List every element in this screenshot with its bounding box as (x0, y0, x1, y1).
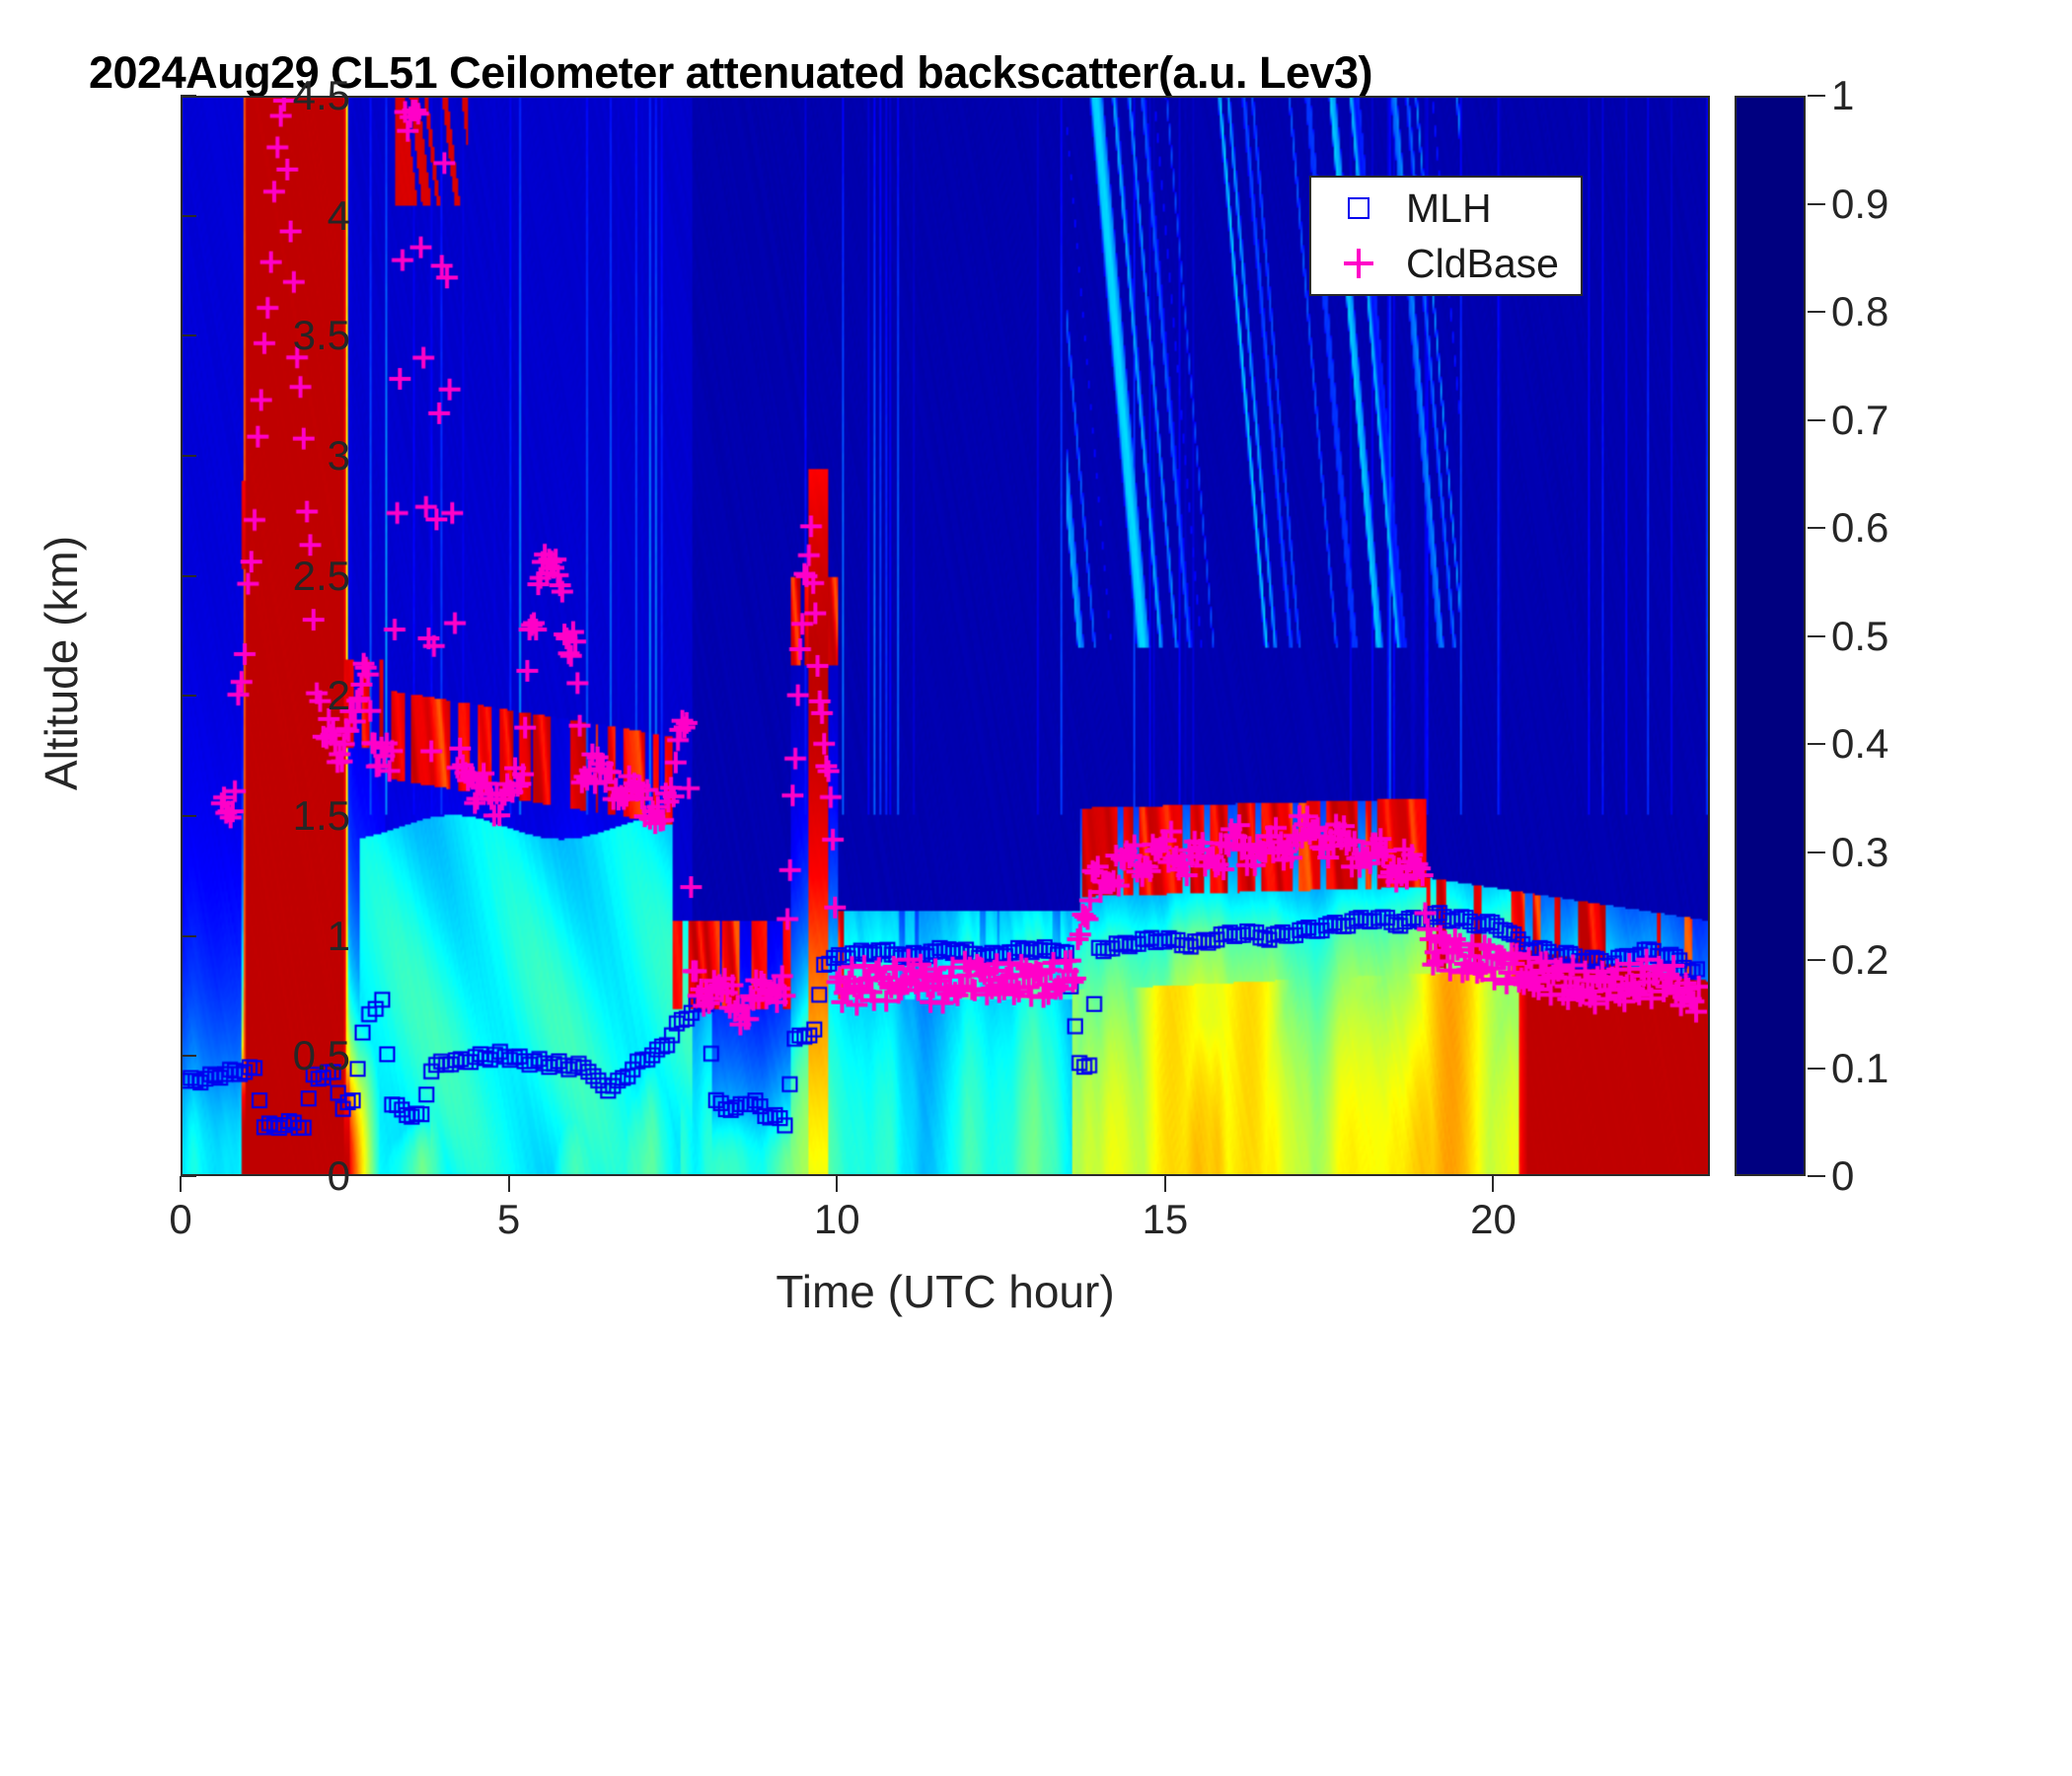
legend-label-cldbase: CldBase (1406, 241, 1559, 287)
colorbar-tick-mark (1808, 959, 1825, 961)
colorbar-tick-label: 0.8 (1831, 288, 2029, 335)
colorbar-tick-label: 1 (1831, 72, 2029, 119)
y-tick-label: 0.5 (192, 1032, 350, 1079)
y-axis-label: Altitude (km) (35, 407, 88, 920)
colorbar-tick-label: 0.1 (1831, 1045, 2029, 1092)
colorbar-tick-label: 0.5 (1831, 613, 2029, 660)
colorbar-tick-mark (1808, 743, 1825, 745)
x-tick-mark (836, 1176, 838, 1192)
plus-marker-icon (1311, 249, 1406, 278)
square-marker-icon (1311, 197, 1406, 219)
x-axis-label: Time (UTC hour) (181, 1265, 1710, 1318)
y-tick-label: 4 (192, 192, 350, 240)
colorbar-tick-mark (1808, 1068, 1825, 1070)
x-tick-mark (1492, 1176, 1494, 1192)
y-tick-label: 3.5 (192, 312, 350, 359)
colorbar[interactable] (1735, 96, 1806, 1176)
x-tick-label: 20 (1404, 1196, 1582, 1243)
x-tick-mark (180, 1176, 182, 1192)
y-tick-label: 4.5 (192, 72, 350, 119)
colorbar-tick-mark (1808, 419, 1825, 421)
legend-item-mlh[interactable]: MLH (1311, 181, 1581, 236)
x-tick-label: 10 (748, 1196, 925, 1243)
y-tick-label: 1.5 (192, 792, 350, 840)
colorbar-tick-label: 0.9 (1831, 181, 2029, 228)
colorbar-tick-mark (1808, 311, 1825, 313)
y-tick-label: 0 (192, 1152, 350, 1200)
colorbar-tick-mark (1808, 851, 1825, 853)
x-tick-label: 15 (1076, 1196, 1254, 1243)
colorbar-gradient (1737, 98, 1804, 1174)
colorbar-tick-label: 0.6 (1831, 504, 2029, 552)
x-tick-label: 5 (420, 1196, 598, 1243)
y-tick-label: 3 (192, 432, 350, 480)
colorbar-tick-mark (1808, 95, 1825, 97)
y-tick-label: 2.5 (192, 553, 350, 600)
colorbar-tick-mark (1808, 527, 1825, 529)
x-tick-mark (508, 1176, 510, 1192)
colorbar-tick-mark (1808, 635, 1825, 637)
colorbar-tick-mark (1808, 1175, 1825, 1177)
x-tick-mark (1164, 1176, 1166, 1192)
legend-label-mlh: MLH (1406, 185, 1492, 232)
colorbar-tick-label: 0.2 (1831, 936, 2029, 984)
colorbar-tick-mark (1808, 203, 1825, 205)
figure-canvas: 2024Aug29 CL51 Ceilometer attenuated bac… (0, 0, 2072, 1776)
colorbar-tick-label: 0 (1831, 1152, 2029, 1200)
colorbar-tick-label: 0.4 (1831, 720, 2029, 768)
colorbar-tick-label: 0.3 (1831, 829, 2029, 876)
y-tick-label: 1 (192, 913, 350, 960)
colorbar-tick-label: 0.7 (1831, 397, 2029, 444)
x-tick-label: 0 (92, 1196, 269, 1243)
plot-legend[interactable]: MLH CldBase (1309, 176, 1583, 296)
legend-item-cldbase[interactable]: CldBase (1311, 236, 1581, 291)
y-tick-label: 2 (192, 672, 350, 719)
